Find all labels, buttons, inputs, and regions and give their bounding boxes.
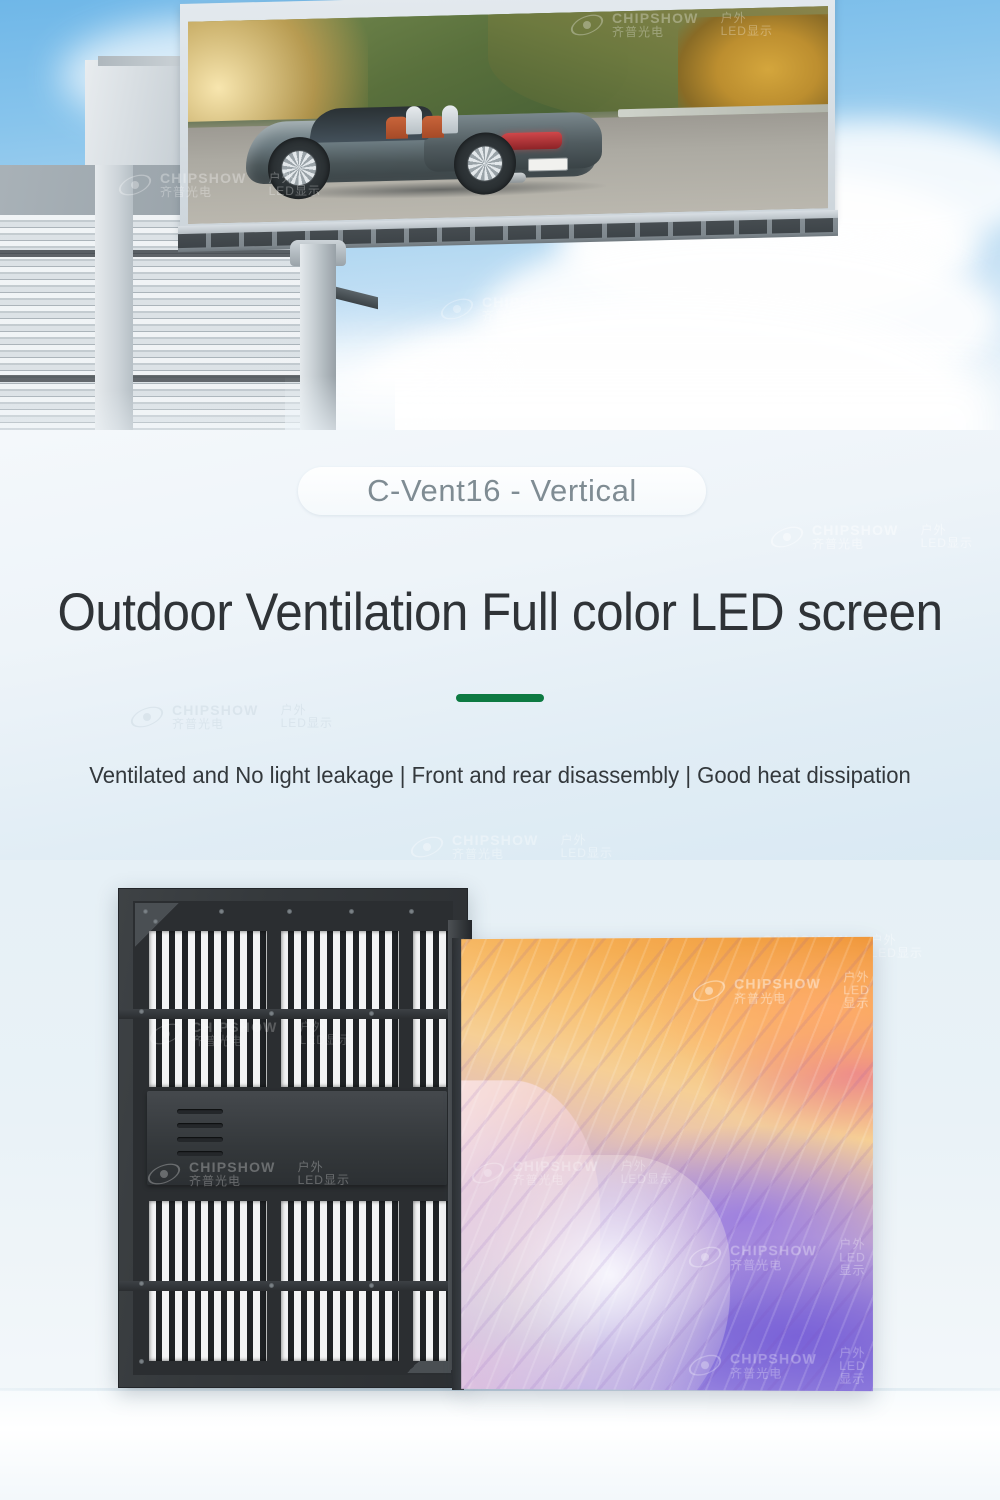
cabinet-screw [219, 909, 224, 914]
watermark-tagline: 户外 LED显示 [921, 524, 973, 550]
control-box-vent-slot [177, 1151, 223, 1156]
cabinet-screw [409, 909, 414, 914]
title-divider [456, 694, 544, 702]
control-box-vent-slot [177, 1109, 223, 1114]
building-band [0, 375, 300, 382]
brand-watermark: CHIPSHOW 齐普光电 户外 LED显示 [410, 830, 613, 864]
car-seat [386, 116, 408, 139]
bmw-z4-roadster [246, 74, 606, 201]
outdoor-led-billboard [180, 0, 840, 266]
roll-bar [442, 105, 458, 133]
car-seat [422, 116, 444, 139]
cabinet-screw [139, 1359, 144, 1364]
watermark-tag-cn: 户外 [871, 934, 923, 947]
watermark-tag-cn: 户外 [281, 704, 333, 717]
watermark-tag-led: LED显示 [281, 717, 333, 730]
page-title: Outdoor Ventilation Full color LED scree… [35, 582, 965, 643]
watermark-brand: CHIPSHOW 齐普光电 [452, 833, 539, 861]
cabinet-control-box [147, 1091, 447, 1185]
cabinet-screw [139, 1281, 144, 1286]
watermark-brand-cn: 齐普光电 [812, 538, 899, 551]
cabinet-screw [269, 1011, 274, 1016]
watermark-tagline: 户外 LED显示 [281, 704, 333, 730]
roll-bar [406, 106, 422, 134]
orbit-logo-icon [130, 700, 164, 734]
cabinet-screw [349, 909, 354, 914]
watermark-tag-cn: 户外 [561, 834, 613, 847]
control-box-vent-slot [177, 1137, 223, 1142]
led-cabinet-front-view: CHIPSHOW 齐普光电 户外 LED显示 CHIPSHOW 齐普光电 户外 … [461, 937, 873, 1391]
feature-subtitle: Ventilated and No light leakage | Front … [20, 762, 980, 789]
cabinet-screw [369, 1011, 374, 1016]
watermark-brand: CHIPSHOW 齐普光电 [172, 703, 259, 731]
billboard-bracket-fin [336, 287, 378, 309]
orbit-logo-icon [410, 830, 444, 864]
model-badge: C-Vent16 - Vertical [298, 467, 706, 515]
watermark-tag-cn: 户外 [921, 524, 973, 537]
watermark-tag-led: LED显示 [561, 847, 613, 860]
watermark-tagline: 户外 LED显示 [871, 934, 923, 960]
brand-watermark: CHIPSHOW 齐普光电 户外 LED显示 [770, 520, 973, 554]
hero-sky-section: CHIPSHOW 齐普光电 户外 LED显示 CHIPSHOW 齐普光电 户外 … [0, 0, 1000, 470]
watermark-brand-cn: 齐普光电 [172, 718, 259, 731]
cabinet-screw [139, 1009, 144, 1014]
model-badge-label: C-Vent16 - Vertical [367, 473, 637, 509]
cabinet-screw [369, 1283, 374, 1288]
watermark-tag-led: LED显示 [871, 947, 923, 960]
watermark-tagline: 户外 LED显示 [561, 834, 613, 860]
cabinet-screw [143, 909, 148, 914]
cabinet-screw [153, 919, 158, 924]
billboard-screen [188, 6, 828, 224]
led-cabinet-rear-view: CHIPSHOW 齐普光电 户外 LED显示 CHIPSHOW 齐普光电 户外 … [118, 888, 468, 1388]
watermark-brand-en: CHIPSHOW [812, 523, 899, 538]
cabinet-screw [287, 909, 292, 914]
reflective-floor [0, 1390, 1000, 1500]
watermark-brand: CHIPSHOW 齐普光电 [812, 523, 899, 551]
control-box-vent-slot [177, 1123, 223, 1128]
watermark-brand-en: CHIPSHOW [452, 833, 539, 848]
cabinet-rail [119, 1281, 467, 1291]
watermark-brand-en: CHIPSHOW [172, 703, 259, 718]
brand-watermark: CHIPSHOW 齐普光电 户外 LED显示 [130, 700, 333, 734]
product-promo-page: CHIPSHOW 齐普光电 户外 LED显示 CHIPSHOW 齐普光电 户外 … [0, 0, 1000, 1500]
license-plate [528, 158, 568, 172]
watermark-tag-led: LED显示 [921, 537, 973, 550]
silk-streaks-secondary [461, 937, 873, 1391]
orbit-logo-icon [770, 520, 804, 554]
cabinet-screw [269, 1283, 274, 1288]
cabinet-rail [119, 1009, 467, 1019]
